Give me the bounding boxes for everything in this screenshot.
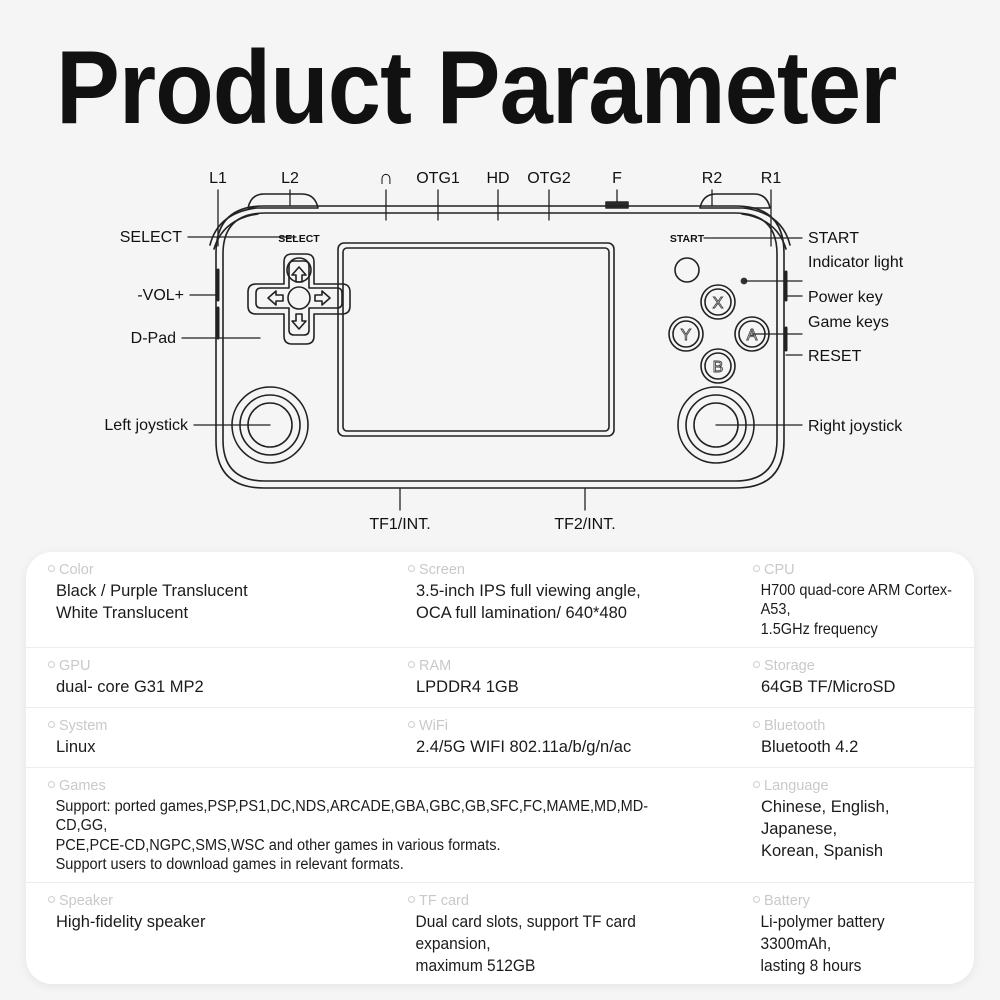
bullet-icon — [48, 721, 55, 728]
spec-value: Dual card slots, support TF card expansi… — [408, 912, 706, 978]
spec-value: Bluetooth 4.2 — [753, 737, 968, 759]
spec-value: Black / Purple Translucent White Translu… — [48, 581, 380, 625]
spec-value: Chinese, English, Japanese, Korean, Span… — [753, 797, 968, 863]
device-body-inner — [223, 213, 777, 481]
headphone-jack-icon: ∩ — [379, 167, 393, 189]
shoulder-button-r1-edge — [742, 214, 786, 249]
specification-card: Color Black / Purple Translucent White T… — [26, 552, 974, 984]
device-screen-inner — [343, 248, 609, 431]
spec-value: 64GB TF/MicroSD — [753, 677, 968, 699]
spec-cell-speaker: Speaker High-fidelity speaker — [26, 883, 386, 984]
spec-row: Speaker High-fidelity speaker TF card Du… — [26, 883, 974, 984]
bullet-icon — [408, 661, 415, 668]
label-volume: -VOL+ — [137, 287, 184, 304]
label-r1: R1 — [761, 170, 782, 187]
spec-cell-storage: Storage 64GB TF/MicroSD — [731, 648, 974, 707]
spec-label: TF card — [408, 892, 725, 910]
spec-cell-cpu: CPU H700 quad-core ARM Cortex-A53, 1.5GH… — [731, 552, 974, 647]
spec-label: Speaker — [48, 892, 380, 910]
spec-label: RAM — [408, 657, 725, 675]
spec-cell-screen: Screen 3.5-inch IPS full viewing angle, … — [386, 552, 731, 647]
label-otg2: OTG2 — [527, 170, 571, 187]
spec-cell-battery: Battery Li-polymer battery 3300mAh, last… — [731, 883, 974, 984]
spec-value: 3.5-inch IPS full viewing angle, OCA ful… — [408, 581, 725, 625]
label-otg1: OTG1 — [416, 170, 460, 187]
label-right-joystick: Right joystick — [808, 418, 903, 435]
bullet-icon — [753, 661, 760, 668]
bullet-icon — [408, 896, 415, 903]
label-tf2: TF2/INT. — [554, 516, 615, 533]
bullet-icon — [48, 896, 55, 903]
dpad-left-arrow — [268, 291, 283, 305]
spec-label: Screen — [408, 561, 725, 579]
spec-cell-tfcard: TF card Dual card slots, support TF card… — [386, 883, 731, 984]
device-select-silkscreen: SELECT — [278, 233, 320, 245]
port-f-nub — [606, 202, 628, 208]
spec-label: Color — [48, 561, 380, 579]
spec-label: System — [48, 717, 380, 735]
dpad-down-arrow — [292, 314, 306, 329]
label-hd: HD — [486, 170, 509, 187]
label-left-joystick: Left joystick — [104, 417, 189, 434]
spec-value: Linux — [48, 737, 380, 759]
bullet-icon — [753, 721, 760, 728]
spec-label: GPU — [48, 657, 380, 675]
device-screen — [338, 243, 614, 436]
spec-value: H700 quad-core ARM Cortex-A53, 1.5GHz fr… — [753, 581, 957, 639]
label-start: START — [808, 230, 859, 247]
bullet-icon — [753, 896, 760, 903]
spec-cell-language: Language Chinese, English, Japanese, Kor… — [731, 768, 974, 882]
spec-cell-color: Color Black / Purple Translucent White T… — [26, 552, 386, 647]
dpad-up-arrow — [292, 267, 306, 282]
bullet-icon — [753, 781, 760, 788]
label-reset: RESET — [808, 348, 862, 365]
spec-value: 2.4/5G WIFI 802.11a/b/g/n/ac — [408, 737, 725, 759]
device-start-silkscreen: START — [670, 233, 705, 245]
start-button — [675, 258, 699, 282]
shoulder-button-l1-edge — [214, 214, 258, 249]
spec-cell-ram: RAM LPDDR4 1GB — [386, 648, 731, 707]
console-diagram: L1 L2 ∩ OTG1 HD OTG2 F R2 R1 SELECT -VOL… — [0, 150, 1000, 550]
spec-value: High-fidelity speaker — [48, 912, 380, 934]
spec-row: GPU dual- core G31 MP2 RAM LPDDR4 1GB St… — [26, 648, 974, 708]
label-l2: L2 — [281, 170, 299, 187]
label-r2: R2 — [702, 170, 723, 187]
spec-cell-system: System Linux — [26, 708, 386, 767]
spec-row: System Linux WiFi 2.4/5G WIFI 802.11a/b/… — [26, 708, 974, 768]
game-button-y-letter: Y — [681, 327, 692, 344]
product-parameter-page: Product Parameter — [0, 0, 1000, 1000]
label-tf1: TF1/INT. — [369, 516, 430, 533]
spec-value: Support: ported games,PSP,PS1,DC,NDS,ARC… — [48, 797, 691, 874]
spec-cell-games: Games Support: ported games,PSP,PS1,DC,N… — [26, 768, 731, 882]
label-f: F — [612, 170, 622, 187]
spec-label: Language — [753, 777, 968, 795]
label-select: SELECT — [120, 229, 182, 246]
label-dpad: D-Pad — [131, 330, 176, 347]
spec-value: dual- core G31 MP2 — [48, 677, 380, 699]
bullet-icon — [408, 565, 415, 572]
bullet-icon — [753, 565, 760, 572]
spec-label: Battery — [753, 892, 968, 910]
dpad-right-arrow — [315, 291, 330, 305]
spec-label: CPU — [753, 561, 968, 579]
spec-value: LPDDR4 1GB — [408, 677, 725, 699]
bullet-icon — [48, 781, 55, 788]
bullet-icon — [48, 565, 55, 572]
spec-cell-bluetooth: Bluetooth Bluetooth 4.2 — [731, 708, 974, 767]
spec-label: Games — [48, 777, 725, 795]
spec-row: Color Black / Purple Translucent White T… — [26, 552, 974, 648]
label-power-key: Power key — [808, 289, 883, 306]
dpad-center — [288, 287, 310, 309]
spec-row: Games Support: ported games,PSP,PS1,DC,N… — [26, 768, 974, 883]
label-l1: L1 — [209, 170, 227, 187]
spec-value: Li-polymer battery 3300mAh, lasting 8 ho… — [753, 912, 955, 978]
bullet-icon — [48, 661, 55, 668]
spec-label: Bluetooth — [753, 717, 968, 735]
game-button-a-letter: A — [747, 327, 758, 344]
spec-label: Storage — [753, 657, 968, 675]
label-game-keys: Game keys — [808, 314, 889, 331]
spec-cell-wifi: WiFi 2.4/5G WIFI 802.11a/b/g/n/ac — [386, 708, 731, 767]
game-button-x-letter: X — [713, 295, 724, 312]
page-title: Product Parameter — [56, 36, 884, 140]
bullet-icon — [408, 721, 415, 728]
spec-label: WiFi — [408, 717, 725, 735]
label-indicator-light: Indicator light — [808, 254, 904, 271]
spec-cell-gpu: GPU dual- core G31 MP2 — [26, 648, 386, 707]
game-button-b-letter: B — [713, 359, 724, 376]
